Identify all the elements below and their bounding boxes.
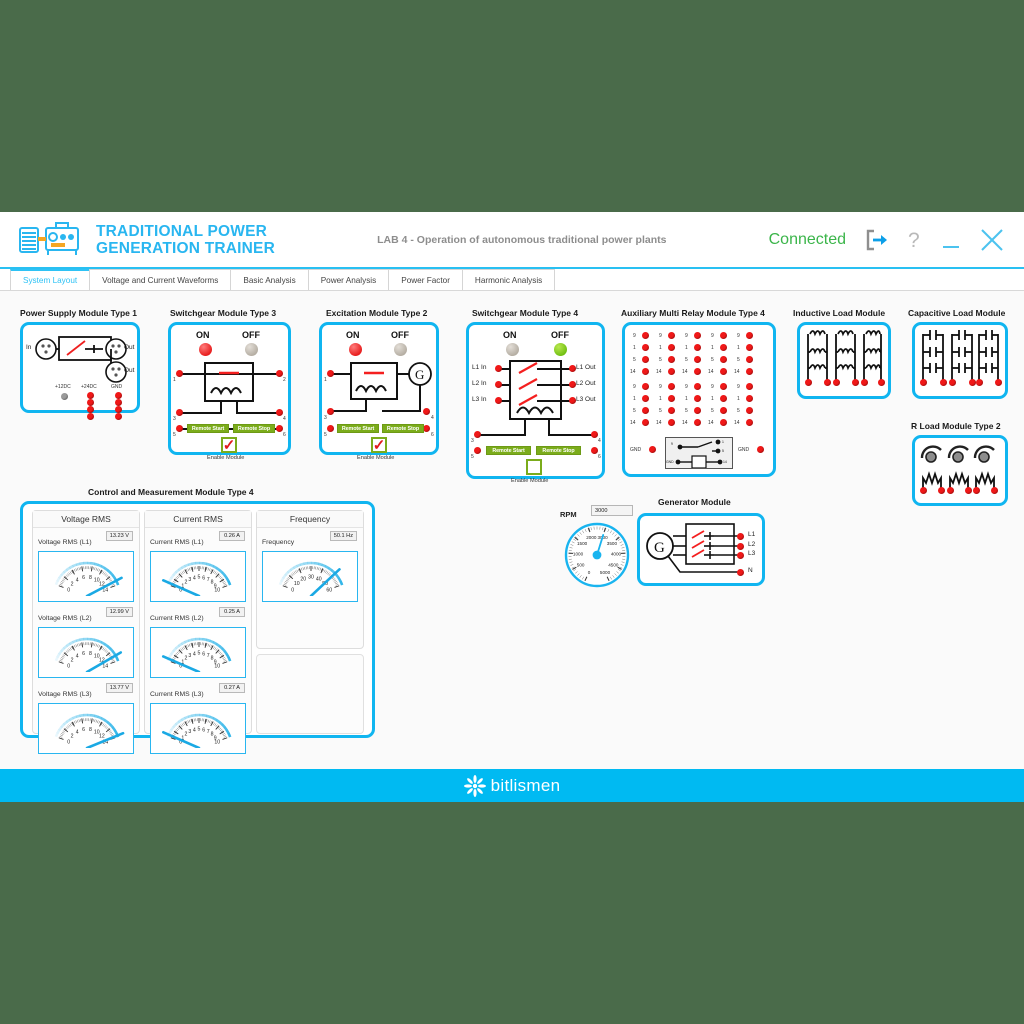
voltage-rms-l3-row: Voltage RMS (L3) 13.77 V 02468101214	[33, 680, 139, 756]
switchgear3-terminal-num-5: 5	[173, 432, 176, 438]
frequency-spacer-panel	[256, 654, 364, 734]
aux-relay-terminal-b2-c3-1[interactable]	[694, 395, 701, 402]
connection-status: Connected	[769, 231, 846, 249]
current-rms-l3-label: Current RMS (L3)	[150, 691, 204, 698]
power-supply-out-label-1: Out	[124, 344, 134, 351]
aux-relay-terminal-b2-c4-1[interactable]	[720, 395, 727, 402]
svg-text:2: 2	[185, 656, 188, 662]
current-rms-panel-title: Current RMS	[145, 511, 251, 528]
switchgear4-input-l1: L1 In	[472, 364, 486, 371]
app-header: TRADITIONAL POWER GENERATION TRAINER LAB…	[0, 212, 1024, 269]
excitation-module-type-2[interactable]: ON OFF G 1 3 4 5 6	[319, 322, 439, 455]
auxiliary-multi-relay-module[interactable]: 9999911111555551414141414999991111155555…	[622, 322, 776, 477]
voltage-rms-panel-title: Voltage RMS	[33, 511, 139, 528]
switchgear3-terminal-num-1: 1	[173, 377, 176, 383]
switchgear4-enable-checkbox[interactable]	[526, 459, 542, 475]
rail-label-gnd: GND	[111, 384, 122, 390]
aux-relay-terminal-b2-c5-9[interactable]	[746, 383, 753, 390]
terminal-24dc-2[interactable]	[87, 399, 94, 406]
svg-text:2: 2	[185, 580, 188, 586]
generator-terminal-l3[interactable]	[737, 552, 744, 559]
inductive-load-module[interactable]	[797, 322, 891, 399]
switchgear4-title: Switchgear Module Type 4	[472, 308, 578, 318]
aux-relay-pin-label-5: 5	[659, 357, 662, 363]
svg-text:8: 8	[89, 575, 92, 581]
aux-relay-pin-label-14: 14	[682, 420, 688, 426]
svg-text:9: 9	[671, 442, 673, 446]
aux-relay-pin-label-9: 9	[685, 333, 688, 339]
svg-text:2: 2	[71, 734, 74, 740]
aux-relay-pin-label-9: 9	[633, 384, 636, 390]
aux-relay-terminal-b1-c3-5[interactable]	[694, 356, 701, 363]
tab-system-layout[interactable]: System Layout	[10, 269, 90, 290]
switchgear3-terminal-num-4: 4	[283, 416, 286, 422]
aux-relay-terminal-b2-c5-5[interactable]	[746, 407, 753, 414]
current-rms-l2-row: Current RMS (L2) 0.25 A 012345678910	[145, 604, 251, 680]
current-rms-l1-row: Current RMS (L1) 0.26 A 012345678910	[145, 528, 251, 604]
svg-text:1: 1	[722, 440, 724, 444]
svg-text:5000: 5000	[600, 570, 611, 575]
aux-relay-terminal-b2-c4-9[interactable]	[720, 383, 727, 390]
svg-text:5: 5	[722, 449, 724, 453]
switchgear4-terminal-3[interactable]	[474, 431, 481, 438]
aux-relay-gnd-right-terminal[interactable]	[757, 446, 764, 453]
application-window: TRADITIONAL POWER GENERATION TRAINER LAB…	[0, 212, 1024, 802]
voltage-rms-l2-value: 12.99 V	[106, 607, 133, 617]
aux-relay-schematic: 9 1 5 GND 14	[665, 437, 733, 469]
voltage-rms-l3-value: 13.77 V	[106, 683, 133, 693]
excitation2-terminal-3[interactable]	[327, 408, 334, 415]
inductive-terminal-2[interactable]	[824, 379, 831, 386]
svg-text:5: 5	[198, 727, 201, 733]
aux-relay-pin-label-14: 14	[734, 420, 740, 426]
aux-relay-terminal-b1-c4-9[interactable]	[720, 332, 727, 339]
current-rms-l3-row: Current RMS (L3) 0.27 A 012345678910	[145, 680, 251, 756]
inductive-terminal-1[interactable]	[805, 379, 812, 386]
aux-relay-terminal-b1-c3-14[interactable]	[694, 368, 701, 375]
switchgear3-terminal-num-2: 2	[283, 377, 286, 383]
switchgear4-terminal-num-6: 6	[598, 454, 601, 460]
excitation2-terminal-num-6: 6	[431, 432, 434, 438]
aux-relay-title: Auxiliary Multi Relay Module Type 4	[621, 308, 765, 318]
aux-relay-pin-label-9: 9	[659, 333, 662, 339]
current-rms-l3-value: 0.27 A	[219, 683, 245, 693]
aux-relay-pin-label-5: 5	[737, 408, 740, 414]
aux-relay-terminal-b2-c1-14[interactable]	[642, 419, 649, 426]
rpm-value-field[interactable]: 3000	[591, 505, 633, 516]
aux-relay-terminal-b1-c2-9[interactable]	[668, 332, 675, 339]
aux-relay-pin-label-14: 14	[734, 369, 740, 375]
header-actions: Connected ?	[769, 226, 1006, 254]
aux-relay-terminal-b1-c2-14[interactable]	[668, 368, 675, 375]
svg-text:5: 5	[198, 575, 201, 581]
aux-relay-pin-label-14: 14	[656, 420, 662, 426]
switchgear4-enable-label: Enable Module	[511, 478, 548, 484]
aux-relay-terminal-b1-c5-5[interactable]	[746, 356, 753, 363]
generator-output-n: N	[748, 567, 753, 574]
voltage-rms-l1-value: 13.23 V	[106, 531, 133, 541]
switchgear4-output-l3: L3 Out	[576, 396, 596, 403]
frequency-row: Frequency 50.1 Hz 0102030405060	[257, 528, 363, 604]
inductive-terminal-3[interactable]	[833, 379, 840, 386]
aux-relay-pin-label-5: 5	[633, 357, 636, 363]
switchgear3-terminal-1[interactable]	[176, 370, 183, 377]
aux-relay-pin-label-14: 14	[708, 369, 714, 375]
aux-relay-pin-label-14: 14	[630, 369, 636, 375]
switchgear4-input-l2: L2 In	[472, 380, 486, 387]
terminal-24dc-1[interactable]	[87, 392, 94, 399]
rload-terminal-2[interactable]	[938, 487, 945, 494]
svg-text:0: 0	[588, 570, 591, 575]
frequency-panel-title: Frequency	[257, 511, 363, 528]
switchgear3-terminal-2[interactable]	[276, 370, 283, 377]
switchgear4-output-l1: L1 Out	[576, 364, 596, 371]
svg-text:2: 2	[71, 658, 74, 664]
switchgear4-terminal-num-4: 4	[598, 438, 601, 444]
excitation2-terminal-4[interactable]	[423, 408, 430, 415]
switchgear4-terminal-6[interactable]	[591, 447, 598, 454]
current-rms-l1-value: 0.26 A	[219, 531, 245, 541]
voltage-rms-l2-gauge: 02468101214	[38, 627, 134, 678]
svg-text:10: 10	[214, 740, 220, 746]
excitation2-terminal-1[interactable]	[327, 370, 334, 377]
rpm-gauge: 050010001500200030003500400045005000	[563, 521, 631, 589]
aux-relay-terminal-b2-c4-14[interactable]	[720, 419, 727, 426]
aux-relay-pin-label-5: 5	[633, 408, 636, 414]
aux-relay-terminal-b2-c3-5[interactable]	[694, 407, 701, 414]
aux-relay-pin-label-14: 14	[682, 369, 688, 375]
svg-text:2: 2	[185, 732, 188, 738]
close-icon[interactable]	[978, 226, 1006, 254]
capacitive-load-module[interactable]	[912, 322, 1008, 399]
svg-text:4: 4	[76, 653, 79, 659]
aux-relay-pin-label-5: 5	[711, 408, 714, 414]
svg-text:10: 10	[214, 664, 220, 670]
switchgear4-remote-start-button[interactable]: Remote Start	[486, 446, 531, 455]
aux-relay-terminal-b1-c5-1[interactable]	[746, 344, 753, 351]
voltage-rms-l2-row: Voltage RMS (L2) 12.99 V 02468101214	[33, 604, 139, 680]
excitation2-remote-start-button[interactable]: Remote Start	[337, 424, 379, 433]
generator-terminal-l2[interactable]	[737, 543, 744, 550]
aux-relay-pin-label-1: 1	[659, 345, 662, 351]
control-measurement-title: Control and Measurement Module Type 4	[88, 487, 254, 497]
capacitive-terminal-5[interactable]	[976, 379, 983, 386]
footer-brand: bitlismen	[491, 776, 561, 796]
aux-relay-pin-label-1: 1	[633, 396, 636, 402]
generator-terminal-n[interactable]	[737, 569, 744, 576]
rload-terminal-6[interactable]	[991, 487, 998, 494]
svg-text:0: 0	[67, 740, 70, 746]
svg-text:4500: 4500	[608, 563, 619, 568]
aux-relay-terminal-b2-c2-9[interactable]	[668, 383, 675, 390]
svg-text:6: 6	[202, 727, 205, 733]
switchgear4-terminal-num-5: 5	[471, 454, 474, 460]
aux-relay-terminal-b1-c3-1[interactable]	[694, 344, 701, 351]
aux-relay-pin-label-5: 5	[737, 357, 740, 363]
switchgear3-enable-label: Enable Module	[207, 455, 244, 461]
aux-relay-pin-label-9: 9	[633, 333, 636, 339]
tab-power-factor[interactable]: Power Factor	[388, 269, 463, 290]
inductive-terminal-4[interactable]	[852, 379, 859, 386]
aux-relay-gnd-left-label: GND	[630, 447, 641, 453]
excitation2-terminal-num-3: 3	[324, 415, 327, 421]
switchgear3-terminal-num-6: 6	[283, 432, 286, 438]
switchgear3-remote-stop-button[interactable]: Remote Stop	[233, 424, 275, 433]
switchgear4-terminal-l3-out[interactable]	[569, 397, 576, 404]
generator-module[interactable]: G L1	[637, 513, 765, 586]
aux-relay-terminal-b2-c1-1[interactable]	[642, 395, 649, 402]
svg-text:7: 7	[207, 729, 210, 735]
switchgear4-terminal-5[interactable]	[474, 447, 481, 454]
frequency-label: Frequency	[262, 539, 294, 546]
switchgear4-terminal-num-3: 3	[471, 438, 474, 444]
aux-relay-terminal-b1-c5-9[interactable]	[746, 332, 753, 339]
aux-relay-terminal-b2-c1-5[interactable]	[642, 407, 649, 414]
svg-text:7: 7	[207, 653, 210, 659]
switchgear3-title: Switchgear Module Type 3	[170, 308, 276, 318]
aux-relay-terminal-b2-c2-5[interactable]	[668, 407, 675, 414]
svg-text:4: 4	[193, 575, 196, 581]
inductive-terminal-5[interactable]	[861, 379, 868, 386]
svg-text:6: 6	[82, 651, 85, 657]
svg-text:6: 6	[82, 727, 85, 733]
aux-relay-pin-label-9: 9	[711, 333, 714, 339]
switchgear3-terminal-num-3: 3	[173, 416, 176, 422]
svg-text:10: 10	[214, 588, 220, 594]
svg-text:3: 3	[188, 653, 191, 659]
frequency-value: 50.1 Hz	[330, 531, 357, 541]
bitlismen-flower-icon	[464, 775, 486, 797]
switchgear3-terminal-4[interactable]	[276, 409, 283, 416]
aux-relay-terminal-b1-c4-5[interactable]	[720, 356, 727, 363]
svg-text:G: G	[654, 540, 665, 556]
aux-relay-pin-label-1: 1	[711, 345, 714, 351]
aux-relay-pin-label-5: 5	[659, 408, 662, 414]
power-supply-module[interactable]: In Out Out +12DC +24DC GND	[20, 322, 140, 413]
generator-module-title: Generator Module	[658, 497, 731, 507]
svg-text:4: 4	[193, 727, 196, 733]
svg-text:6: 6	[202, 651, 205, 657]
terminal-gnd-1[interactable]	[115, 392, 122, 399]
aux-relay-terminal-b2-c1-9[interactable]	[642, 383, 649, 390]
power-supply-out-label-2: Out	[124, 367, 134, 374]
excitation2-terminal-6[interactable]	[423, 425, 430, 432]
svg-text:8: 8	[89, 651, 92, 657]
voltage-rms-l3-label: Voltage RMS (L3)	[38, 691, 92, 698]
aux-relay-pin-label-9: 9	[711, 384, 714, 390]
aux-relay-terminal-b2-c2-14[interactable]	[668, 419, 675, 426]
voltage-rms-panel: Voltage RMS Voltage RMS (L1) 13.23 V 024…	[32, 510, 140, 734]
logout-icon[interactable]	[862, 227, 888, 253]
current-rms-l3-gauge: 012345678910	[150, 703, 246, 754]
voltage-rms-l3-gauge: 02468101214	[38, 703, 134, 754]
svg-text:30: 30	[308, 575, 314, 581]
current-rms-l2-gauge: 012345678910	[150, 627, 246, 678]
svg-text:0: 0	[291, 588, 294, 594]
switchgear4-terminal-l1-out[interactable]	[569, 365, 576, 372]
generator-terminal-l1[interactable]	[737, 533, 744, 540]
voltage-rms-l2-label: Voltage RMS (L2)	[38, 615, 92, 622]
aux-relay-pin-label-9: 9	[685, 384, 688, 390]
aux-relay-terminal-b2-c4-5[interactable]	[720, 407, 727, 414]
terminal-gnd-4[interactable]	[115, 413, 122, 420]
excitation2-terminal-num-4: 4	[431, 415, 434, 421]
aux-relay-pin-label-9: 9	[737, 384, 740, 390]
svg-text:20: 20	[300, 576, 306, 582]
svg-text:14: 14	[102, 664, 108, 670]
svg-text:GND: GND	[666, 460, 674, 464]
current-rms-panel: Current RMS Current RMS (L1) 0.26 A 0123…	[144, 510, 252, 734]
terminal-12dc[interactable]	[61, 393, 68, 400]
aux-relay-terminal-b2-c3-9[interactable]	[694, 383, 701, 390]
terminal-gnd-3[interactable]	[115, 406, 122, 413]
aux-relay-pin-label-5: 5	[711, 357, 714, 363]
capacitive-terminal-4[interactable]	[969, 379, 976, 386]
power-supply-title: Power Supply Module Type 1	[20, 308, 137, 318]
inductive-terminal-6[interactable]	[878, 379, 885, 386]
excitation2-enable-checkbox[interactable]: ✓	[371, 437, 387, 453]
aux-relay-terminal-b1-c3-9[interactable]	[694, 332, 701, 339]
svg-text:0: 0	[67, 588, 70, 594]
aux-relay-terminal-b1-c1-1[interactable]	[642, 344, 649, 351]
switchgear4-input-l3: L3 In	[472, 396, 486, 403]
app-footer: bitlismen	[0, 769, 1024, 802]
svg-text:40: 40	[316, 576, 322, 582]
svg-text:1500: 1500	[577, 541, 588, 546]
svg-text:5: 5	[198, 651, 201, 657]
rail-label-24dc: +24DC	[81, 384, 97, 390]
excitation2-terminal-5[interactable]	[327, 425, 334, 432]
voltage-rms-l1-label: Voltage RMS (L1)	[38, 539, 92, 546]
generator-output-l3: L3	[748, 550, 755, 557]
svg-text:6: 6	[82, 575, 85, 581]
current-rms-l1-label: Current RMS (L1)	[150, 539, 204, 546]
current-rms-l2-label: Current RMS (L2)	[150, 615, 204, 622]
switchgear3-enable-checkbox[interactable]: ✓	[221, 437, 237, 453]
generator-logo-icon	[18, 220, 82, 260]
current-rms-l1-gauge: 012345678910	[150, 551, 246, 602]
svg-text:G: G	[415, 367, 424, 382]
aux-relay-terminal-b1-c1-9[interactable]	[642, 332, 649, 339]
aux-relay-pin-label-1: 1	[685, 396, 688, 402]
terminal-24dc-4[interactable]	[87, 413, 94, 420]
rpm-label: RPM	[560, 510, 577, 519]
aux-relay-pin-label-1: 1	[737, 345, 740, 351]
tab-power-analysis[interactable]: Power Analysis	[308, 269, 390, 290]
switchgear3-terminal-6[interactable]	[276, 425, 283, 432]
tab-bar[interactable]: System Layout Voltage and Current Wavefo…	[0, 269, 1024, 291]
switchgear3-remote-start-button[interactable]: Remote Start	[187, 424, 229, 433]
aux-relay-terminal-b2-c2-1[interactable]	[668, 395, 675, 402]
aux-relay-terminal-b2-c5-14[interactable]	[746, 419, 753, 426]
r-load-module[interactable]	[912, 435, 1008, 506]
svg-text:0: 0	[67, 664, 70, 670]
svg-text:4: 4	[193, 651, 196, 657]
system-layout-canvas: Power Supply Module Type 1 In Out Out +	[0, 291, 1024, 769]
switchgear4-remote-stop-button[interactable]: Remote Stop	[536, 446, 581, 455]
capacitive-terminal-6[interactable]	[995, 379, 1002, 386]
rail-label-12dc: +12DC	[55, 384, 71, 390]
excitation2-remote-stop-button[interactable]: Remote Stop	[382, 424, 424, 433]
tab-basic-analysis[interactable]: Basic Analysis	[230, 269, 308, 290]
aux-relay-terminal-b1-c4-14[interactable]	[720, 368, 727, 375]
aux-relay-terminal-b1-c1-5[interactable]	[642, 356, 649, 363]
frequency-gauge: 0102030405060	[262, 551, 358, 602]
control-and-measurement-module[interactable]: Voltage RMS Voltage RMS (L1) 13.23 V 024…	[20, 501, 375, 738]
capacitive-terminal-2[interactable]	[940, 379, 947, 386]
switchgear4-terminal-l2-out[interactable]	[569, 381, 576, 388]
excitation2-terminal-num-5: 5	[324, 432, 327, 438]
voltage-rms-l1-gauge: 02468101214	[38, 551, 134, 602]
capacitive-load-title: Capacitive Load Module	[908, 308, 1005, 318]
switchgear4-terminal-l1-in[interactable]	[495, 365, 502, 372]
aux-relay-pin-label-14: 14	[656, 369, 662, 375]
aux-relay-terminal-b2-c5-1[interactable]	[746, 395, 753, 402]
rload-terminal-1[interactable]	[920, 487, 927, 494]
aux-relay-terminal-b1-c5-14[interactable]	[746, 368, 753, 375]
switchgear4-output-l2: L2 Out	[576, 380, 596, 387]
aux-relay-pin-label-9: 9	[737, 333, 740, 339]
switchgear3-terminal-5[interactable]	[176, 425, 183, 432]
svg-text:3: 3	[188, 729, 191, 735]
aux-relay-pin-label-1: 1	[685, 345, 688, 351]
switchgear-module-type-4[interactable]: ON OFF L1 In	[466, 322, 605, 479]
help-icon[interactable]: ?	[904, 227, 924, 253]
svg-text:60: 60	[326, 588, 332, 594]
capacitive-terminal-1[interactable]	[920, 379, 927, 386]
aux-relay-pin-label-1: 1	[711, 396, 714, 402]
switchgear-module-type-3[interactable]: ON OFF 1 2 3 4 5 6	[168, 322, 291, 455]
aux-relay-pin-label-1: 1	[659, 396, 662, 402]
aux-relay-terminal-b1-c2-5[interactable]	[668, 356, 675, 363]
switchgear4-terminal-l2-in[interactable]	[495, 381, 502, 388]
switchgear4-terminal-4[interactable]	[591, 431, 598, 438]
aux-relay-terminal-b1-c1-14[interactable]	[642, 368, 649, 375]
voltage-rms-l1-row: Voltage RMS (L1) 13.23 V 02468101214	[33, 528, 139, 604]
aux-relay-pin-label-1: 1	[737, 396, 740, 402]
aux-relay-terminal-b2-c3-14[interactable]	[694, 419, 701, 426]
svg-text:10: 10	[294, 581, 300, 587]
terminal-24dc-3[interactable]	[87, 406, 94, 413]
terminal-gnd-2[interactable]	[115, 399, 122, 406]
aux-relay-gnd-left-terminal[interactable]	[649, 446, 656, 453]
aux-relay-pin-label-14: 14	[708, 420, 714, 426]
lab-subtitle: LAB 4 - Operation of autonomous traditio…	[275, 234, 769, 246]
svg-text:7: 7	[207, 577, 210, 583]
minimize-icon[interactable]	[940, 227, 962, 253]
aux-relay-terminal-b1-c2-1[interactable]	[668, 344, 675, 351]
svg-text:500: 500	[577, 563, 585, 568]
aux-relay-pin-label-14: 14	[630, 420, 636, 426]
switchgear4-terminal-l3-in[interactable]	[495, 397, 502, 404]
current-rms-l2-value: 0.25 A	[219, 607, 245, 617]
rload-terminal-4[interactable]	[965, 487, 972, 494]
tab-voltage-current-waveforms[interactable]: Voltage and Current Waveforms	[89, 269, 231, 290]
tab-harmonic-analysis[interactable]: Harmonic Analysis	[462, 269, 555, 290]
r-load-title: R Load Module Type 2	[911, 421, 1001, 431]
aux-relay-pin-label-5: 5	[685, 357, 688, 363]
brand-line-1: TRADITIONAL POWER	[96, 223, 275, 240]
svg-text:3500: 3500	[607, 541, 618, 546]
svg-text:6: 6	[202, 575, 205, 581]
switchgear3-terminal-3[interactable]	[176, 409, 183, 416]
excitation2-title: Excitation Module Type 2	[326, 308, 427, 318]
rload-terminal-5[interactable]	[973, 487, 980, 494]
aux-relay-terminal-b1-c4-1[interactable]	[720, 344, 727, 351]
capacitive-terminal-3[interactable]	[949, 379, 956, 386]
app-logo: TRADITIONAL POWER GENERATION TRAINER	[18, 220, 275, 260]
rload-terminal-3[interactable]	[947, 487, 954, 494]
